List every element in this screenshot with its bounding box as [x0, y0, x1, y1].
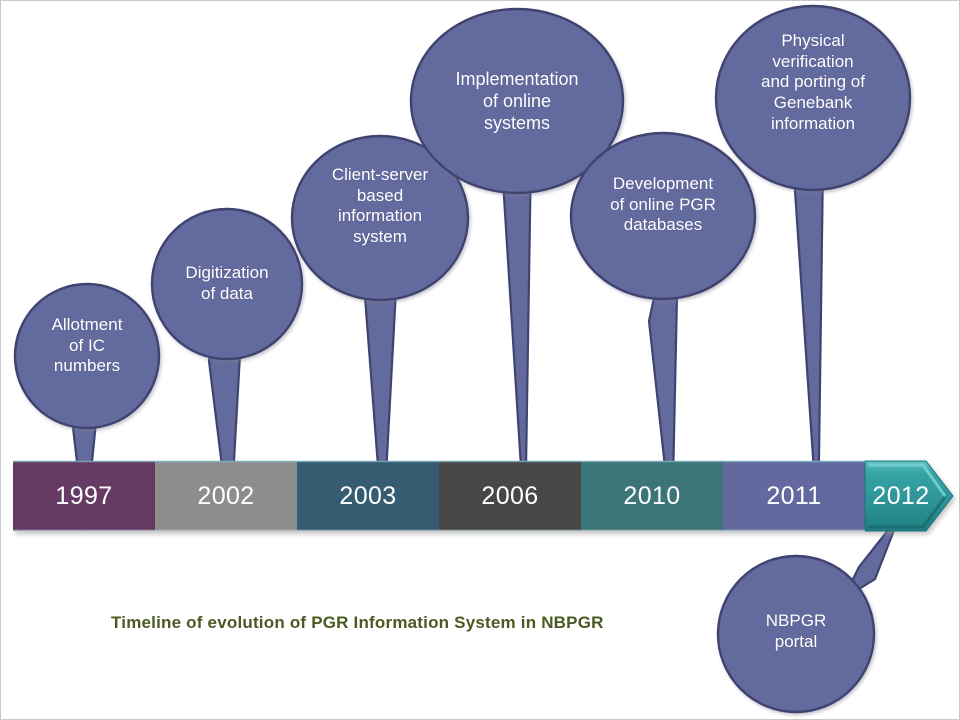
- year-label-2002: 2002: [155, 484, 297, 509]
- figure-caption: Timeline of evolution of PGR Information…: [111, 613, 604, 633]
- callout-bubble-1997[interactable]: [15, 284, 159, 428]
- callout-bubble-2010[interactable]: [571, 133, 755, 299]
- callout-bubble-2002[interactable]: [152, 209, 302, 359]
- callout-bubble-2012[interactable]: [718, 556, 874, 712]
- year-label-2010: 2010: [581, 484, 723, 509]
- callout-bubbles: [15, 6, 910, 712]
- year-label-2006: 2006: [439, 484, 581, 509]
- year-label-2003: 2003: [297, 484, 439, 509]
- callout-bubble-2011[interactable]: [716, 6, 910, 190]
- timeline-figure: Allotment of IC numbers Digitization of …: [0, 0, 960, 720]
- year-label-1997: 1997: [13, 484, 155, 509]
- year-label-2011: 2011: [723, 484, 865, 509]
- year-label-2012: 2012: [863, 484, 939, 509]
